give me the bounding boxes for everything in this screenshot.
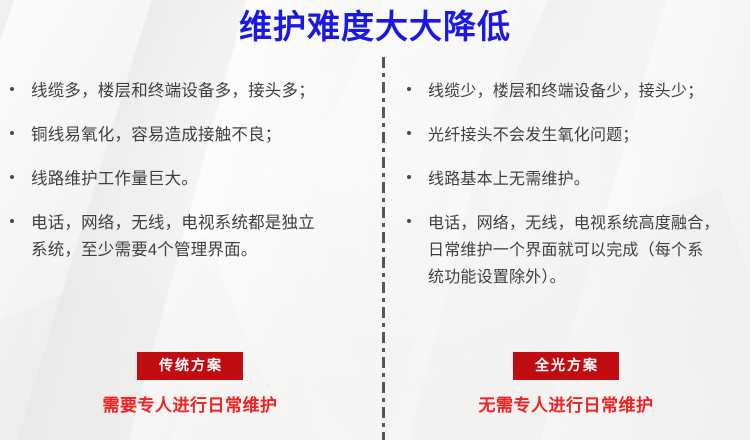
list-item-label: 线缆多，楼层和终端设备多，接头多； [31,78,370,105]
list-item: 线缆少，楼层和终端设备少，接头少； [407,78,747,105]
list-item-label: 电话，网络，无线，电视系统都是独立 系统，至少需要4个管理界面。 [31,210,370,264]
bullet-dot-icon [407,210,428,223]
left-summary-note: 需要专人进行日常维护 [0,395,380,417]
list-item-label: 光纤接头不会发生氧化问题； [428,122,747,149]
slide-title: 维护难度大大降低 [0,6,750,48]
bullet-dot-icon [10,122,31,135]
left-summary: 传统方案 需要专人进行日常维护 [0,352,380,417]
list-item-label: 线缆少，楼层和终端设备少，接头少； [428,78,747,105]
list-item-label: 线路基本上无需维护。 [428,166,747,193]
bullet-dot-icon [407,78,428,91]
bullet-dot-icon [10,210,31,223]
list-item: 线缆多，楼层和终端设备多，接头多； [10,78,370,105]
bullet-dot-icon [10,78,31,91]
list-item: 电话，网络，无线，电视系统高度融合， 日常维护一个界面就可以完成（每个系 统功能… [407,210,747,291]
status-badge-traditional: 传统方案 [137,352,243,380]
status-badge-alloptical: 全光方案 [513,352,619,380]
list-item: 电话，网络，无线，电视系统都是独立 系统，至少需要4个管理界面。 [10,210,370,264]
list-item: 铜线易氧化，容易造成接触不良； [10,122,370,149]
list-item: 线路基本上无需维护。 [407,166,747,193]
left-column: 线缆多，楼层和终端设备多，接头多； 铜线易氧化，容易造成接触不良； 线路维护工作… [10,78,370,281]
right-column: 线缆少，楼层和终端设备少，接头少； 光纤接头不会发生氧化问题； 线路基本上无需维… [407,78,747,308]
right-summary: 全光方案 无需专人进行日常维护 [382,352,750,417]
list-item: 线路维护工作量巨大。 [10,166,370,193]
bullet-dot-icon [407,122,428,135]
list-item-label: 铜线易氧化，容易造成接触不良； [31,122,370,149]
bullet-dot-icon [10,166,31,179]
list-item-label: 电话，网络，无线，电视系统高度融合， 日常维护一个界面就可以完成（每个系 统功能… [428,210,747,291]
right-summary-note: 无需专人进行日常维护 [382,395,750,417]
bullet-dot-icon [407,166,428,179]
list-item-label: 线路维护工作量巨大。 [31,166,370,193]
list-item: 光纤接头不会发生氧化问题； [407,122,747,149]
slide-canvas: 维护难度大大降低 线缆多，楼层和终端设备多，接头多； 铜线易氧化，容易造成接触不… [0,0,750,440]
